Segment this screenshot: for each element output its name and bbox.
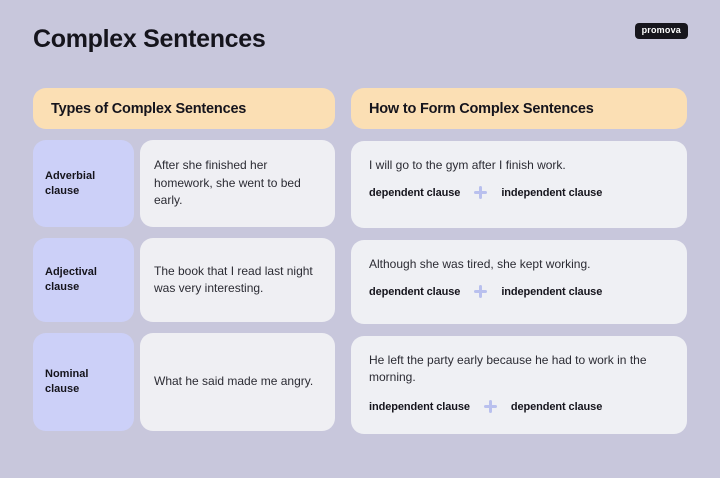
second-clause-tag: independent clause xyxy=(501,187,602,199)
plus-icon xyxy=(474,285,487,298)
formation-column: How to Form Complex Sentences I will go … xyxy=(351,88,687,434)
page-title: Complex Sentences xyxy=(33,25,266,54)
formation-card: Although she was tired, she kept working… xyxy=(351,240,687,324)
plus-icon xyxy=(484,400,497,413)
table-row: Adjectival clause The book that I read l… xyxy=(33,238,335,322)
clause-structure: dependent clause independent clause xyxy=(369,285,669,298)
example-sentence: Although she was tired, she kept working… xyxy=(369,256,669,273)
types-column-heading: Types of Complex Sentences xyxy=(33,88,335,129)
formation-card: He left the party early because he had t… xyxy=(351,336,687,434)
second-clause-tag: dependent clause xyxy=(511,401,602,413)
clause-structure: independent clause dependent clause xyxy=(369,400,669,413)
example-sentence: He left the party early because he had t… xyxy=(369,352,669,386)
infographic-page: Complex Sentences promova Types of Compl… xyxy=(0,0,720,478)
promova-logo: promova xyxy=(635,23,688,39)
first-clause-tag: dependent clause xyxy=(369,286,460,298)
clause-structure: dependent clause independent clause xyxy=(369,186,669,199)
clause-example-text: After she finished her homework, she wen… xyxy=(140,140,335,227)
clause-example-text: What he said made me angry. xyxy=(140,333,335,431)
clause-example-text: The book that I read last night was very… xyxy=(140,238,335,322)
content-columns: Types of Complex Sentences Adverbial cla… xyxy=(33,88,687,434)
table-row: Nominal clause What he said made me angr… xyxy=(33,333,335,431)
second-clause-tag: independent clause xyxy=(501,286,602,298)
clause-type-label: Nominal clause xyxy=(33,333,134,431)
first-clause-tag: independent clause xyxy=(369,401,470,413)
first-clause-tag: dependent clause xyxy=(369,187,460,199)
formation-card: I will go to the gym after I finish work… xyxy=(351,141,687,228)
clause-type-label: Adjectival clause xyxy=(33,238,134,322)
plus-icon xyxy=(474,186,487,199)
example-sentence: I will go to the gym after I finish work… xyxy=(369,157,669,174)
clause-type-label: Adverbial clause xyxy=(33,140,134,227)
types-column: Types of Complex Sentences Adverbial cla… xyxy=(33,88,335,434)
table-row: Adverbial clause After she finished her … xyxy=(33,140,335,227)
formation-column-heading: How to Form Complex Sentences xyxy=(351,88,687,129)
